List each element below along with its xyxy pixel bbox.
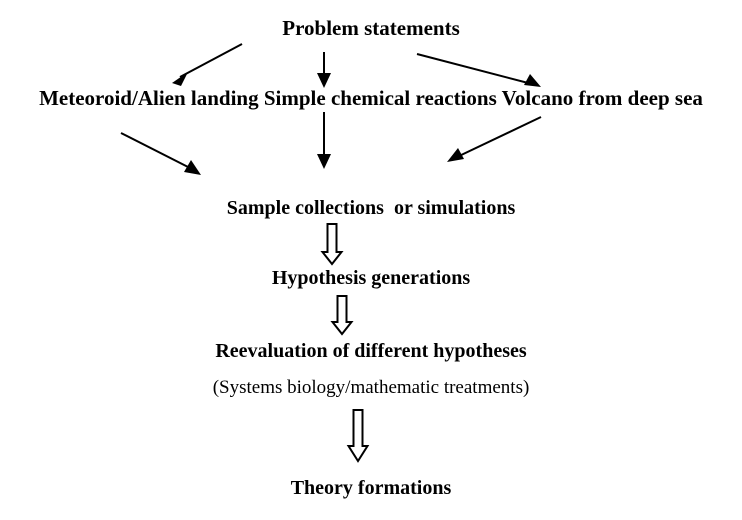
node-volcano-from-deep-sea: Volcano from deep sea (502, 86, 703, 110)
arrow-layer (0, 0, 742, 520)
arrow-meteoroid-to-sample (121, 133, 201, 175)
node-hypothesis-generations: Hypothesis generations (0, 268, 742, 288)
node-meteoroid-alien-landing: Meteoroid/Alien landing (39, 86, 259, 110)
node-simple-chemical-reactions: Simple chemical reactions (264, 86, 497, 110)
node-reevaluation-of-different-hypotheses: Reevaluation of different hypotheses (0, 341, 742, 361)
node-sample-collections: Sample collections or simulations (0, 198, 742, 218)
arrow-sample-to-hypothesis (323, 224, 342, 264)
node-theory-formations: Theory formations (0, 478, 742, 498)
arrow-reevaluation-to-theory (349, 410, 368, 461)
arrow-problem-to-meteoroid (172, 44, 242, 86)
arrow-problem-to-volcano (417, 54, 541, 87)
flowchart-diagram: Problem statements Meteoroid/Alien landi… (0, 0, 742, 520)
arrow-problem-to-chemical (317, 52, 331, 88)
arrow-chemical-to-sample (317, 112, 331, 169)
branch-label-row: Meteoroid/Alien landing Simple chemical … (0, 88, 742, 109)
arrow-volcano-to-sample (447, 117, 541, 162)
node-problem-statements: Problem statements (0, 18, 742, 39)
node-systems-biology-mathematic-treatments: (Systems biology/mathematic treatments) (0, 378, 742, 397)
arrow-hypothesis-to-reevaluation (333, 296, 352, 334)
